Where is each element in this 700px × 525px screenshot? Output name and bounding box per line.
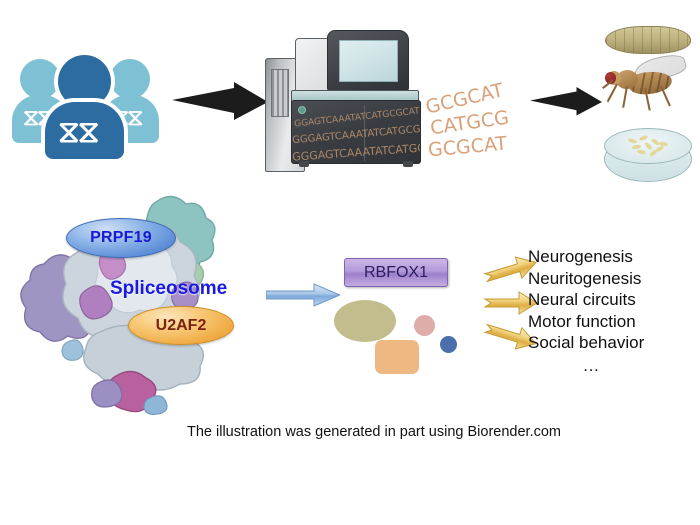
- sequencer-foot-right: [403, 161, 413, 167]
- outcome-ellipsis: …: [528, 356, 656, 376]
- rbfox1-label: RBFOX1: [344, 258, 448, 287]
- fly-leg-2: [622, 86, 627, 108]
- orange-rounded-rect-shape: [375, 340, 419, 374]
- outcome-item-neuritogenesis: Neuritogenesis: [528, 268, 698, 290]
- outcomes-list: Neurogenesis Neuritogenesis Neural circu…: [528, 246, 698, 376]
- outcome-item-motor-function: Motor function: [528, 311, 698, 333]
- spliceosome-title: Spliceosome: [110, 278, 227, 300]
- dna-sequencer-icon: GGAGTCAAATATCATGCGCAT GGGAGTCAAATATCATGC…: [265, 30, 425, 175]
- sequencer-status-led: [298, 106, 306, 114]
- model-organisms-group: [600, 24, 696, 189]
- khaki-ellipse-shape: [334, 300, 396, 342]
- biorender-figure: ⧖⧖ ⧖⧖ ⧖⧖ GGAGTCAAATATCATGCGCAT: [0, 0, 700, 525]
- fly-leg-1: [607, 84, 618, 102]
- figure-caption: The illustration was generated in part u…: [0, 424, 700, 440]
- black-arrow-to-organisms: [530, 82, 602, 122]
- outcome-item-social-behavior: Social behavior: [528, 332, 698, 354]
- dna-helix-glyph-front: ⧖⧖: [58, 117, 98, 148]
- blue-arrow-spliceosome-to-rbfox1: [266, 283, 340, 307]
- sequencer-foot-left: [299, 161, 309, 167]
- sequencer-vents: [271, 69, 289, 117]
- blue-circle-shape: [440, 336, 457, 353]
- drosophila-larva-icon: [605, 26, 691, 54]
- outcome-item-neural-circuits: Neural circuits: [528, 289, 698, 311]
- petri-dish-larvae: [626, 136, 670, 156]
- outcome-item-neurogenesis: Neurogenesis: [528, 246, 698, 268]
- sequencer-front-panel: GGAGTCAAATATCATGCGCAT GGGAGTCAAATATCATGC…: [291, 100, 421, 164]
- caption-text: The illustration was generated in part u…: [139, 424, 561, 440]
- black-arrow-to-sequencer: [172, 82, 268, 122]
- sequencer-screen: [339, 40, 398, 82]
- people-with-dna-icon: ⧖⧖ ⧖⧖ ⧖⧖: [12, 45, 172, 155]
- pink-circle-shape: [414, 315, 435, 336]
- u2af2-label: U2AF2: [128, 306, 234, 345]
- sequencer-monitor: [327, 30, 409, 92]
- prpf19-label: PRPF19: [66, 218, 176, 258]
